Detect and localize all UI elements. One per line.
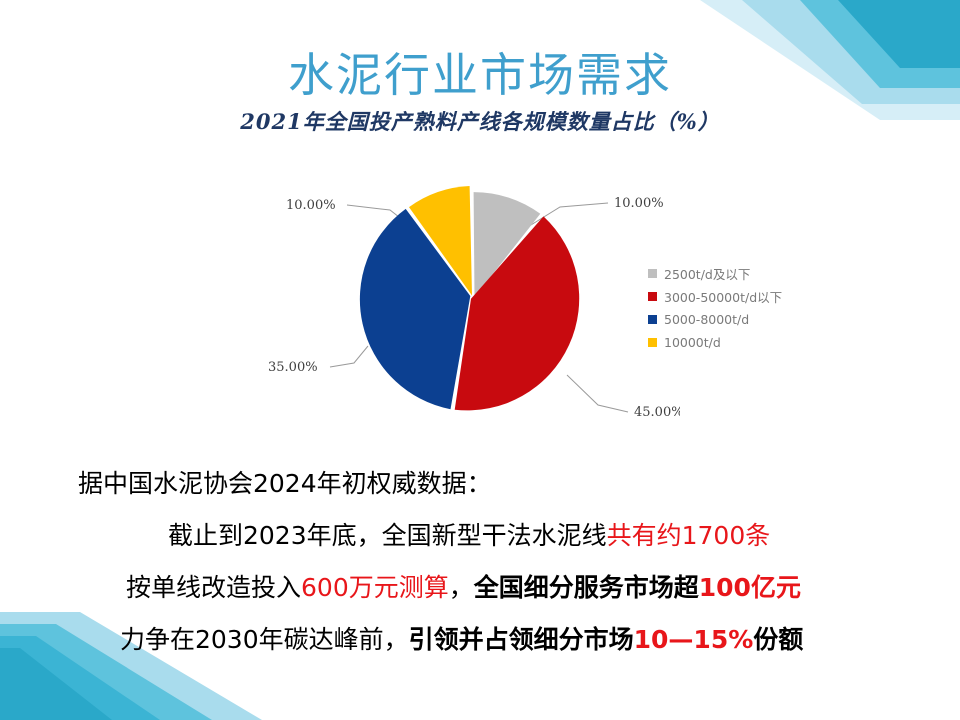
- pie-label-yellow: 10.00%: [286, 198, 336, 213]
- legend-swatch-yellow: [648, 338, 657, 347]
- body-line-2: 截止到2023年底，全国新型干法水泥线共有约1700条: [0, 510, 960, 562]
- legend-label-blue: 5000-8000t/d: [664, 312, 749, 327]
- legend-label-yellow: 10000t/d: [664, 335, 721, 350]
- pie-chart-svg: 10.00% 10.00% 35.00% 45.00%: [250, 150, 680, 440]
- body-line-4-strong-a: 引领并占领细分市场: [409, 625, 634, 654]
- body-line-4-text: 力争在2030年碳达峰前，: [120, 625, 409, 654]
- pie-label-red: 45.00%: [634, 405, 680, 420]
- legend-swatch-gray: [648, 269, 657, 278]
- body-text-block: 据中国水泥协会2024年初权威数据： 截止到2023年底，全国新型干法水泥线共有…: [0, 458, 960, 666]
- chart-subtitle: 2021年全国投产熟料产线各规模数量占比（%）: [0, 106, 960, 136]
- legend-item-red[interactable]: 3000-50000t/d以下: [648, 285, 878, 308]
- body-line-3-highlight-a: 600万元测算: [301, 573, 449, 602]
- chart-legend: 2500t/d及以下 3000-50000t/d以下 5000-8000t/d …: [648, 262, 878, 354]
- body-line-3-text: 按单线改造投入: [126, 573, 301, 602]
- pie-slice-red[interactable]: [455, 216, 580, 410]
- body-line-1: 据中国水泥协会2024年初权威数据：: [0, 458, 960, 510]
- leader-line-red: [567, 375, 628, 412]
- body-line-3-comma: ，: [449, 573, 474, 602]
- legend-item-blue[interactable]: 5000-8000t/d: [648, 308, 878, 331]
- legend-label-red: 3000-50000t/d以下: [664, 287, 782, 306]
- leader-line-blue: [330, 346, 368, 367]
- pie-label-gray: 10.00%: [614, 196, 664, 211]
- body-line-4: 力争在2030年碳达峰前，引领并占领细分市场10—15%份额: [0, 614, 960, 666]
- body-line-2-highlight: 共有约1700条: [607, 521, 771, 550]
- legend-swatch-red: [648, 292, 657, 301]
- body-line-4-strong-b: 份额: [753, 625, 803, 654]
- body-line-3: 按单线改造投入600万元测算，全国细分服务市场超100亿元: [0, 562, 960, 614]
- body-line-3-highlight-b: 100亿元: [699, 573, 801, 602]
- body-line-4-highlight: 10—15%: [634, 625, 754, 654]
- legend-item-yellow[interactable]: 10000t/d: [648, 331, 878, 354]
- pie-label-blue: 35.00%: [268, 360, 318, 375]
- slide-header: 水泥行业市场需求 2021年全国投产熟料产线各规模数量占比（%）: [0, 52, 960, 136]
- legend-swatch-blue: [648, 315, 657, 324]
- legend-label-gray: 2500t/d及以下: [664, 264, 750, 283]
- body-line-2-text: 截止到2023年底，全国新型干法水泥线: [168, 521, 607, 550]
- legend-item-gray[interactable]: 2500t/d及以下: [648, 262, 878, 285]
- body-line-3-strong: 全国细分服务市场超: [474, 573, 699, 602]
- page-title: 水泥行业市场需求: [0, 52, 960, 100]
- body-line-1-text: 据中国水泥协会2024年初权威数据：: [78, 469, 492, 498]
- slide-canvas: 水泥行业市场需求 2021年全国投产熟料产线各规模数量占比（%） 10.00% …: [0, 0, 960, 720]
- pie-chart: 10.00% 10.00% 35.00% 45.00% 2500t/d及以下 3…: [250, 150, 890, 440]
